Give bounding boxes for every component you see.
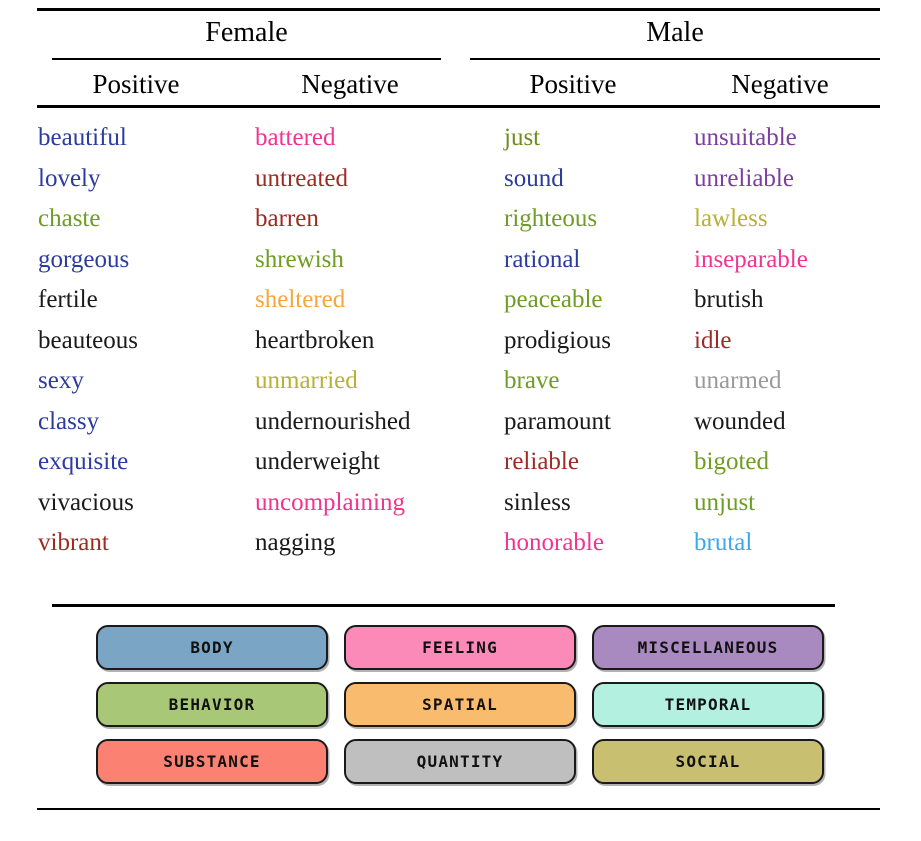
legend-badge-miscellaneous[interactable]: MISCELLANEOUS [592, 625, 824, 670]
legend-badge-spatial[interactable]: SPATIAL [344, 682, 576, 727]
word-cell: battered [255, 118, 470, 159]
word-column-female-positive: beautifullovelychastegorgeousfertilebeau… [38, 118, 243, 564]
male-group-rule [470, 58, 880, 60]
word-cell: gorgeous [38, 240, 243, 281]
legend-separator-rule [52, 604, 835, 607]
word-cell: brutish [694, 280, 894, 321]
word-cell: unreliable [694, 159, 894, 200]
word-cell: heartbroken [255, 321, 470, 362]
word-cell: sexy [38, 361, 243, 402]
word-cell: bigoted [694, 442, 894, 483]
word-cell: lawless [694, 199, 894, 240]
column-header-female-negative: Negative [245, 68, 455, 101]
legend-badge-quantity[interactable]: QUANTITY [344, 739, 576, 784]
word-cell: inseparable [694, 240, 894, 281]
legend-badge-temporal[interactable]: TEMPORAL [592, 682, 824, 727]
word-cell: reliable [504, 442, 689, 483]
word-cell: classy [38, 402, 243, 443]
word-column-female-negative: battereduntreatedbarrenshrewishsheltered… [255, 118, 470, 564]
legend-badge-body[interactable]: BODY [96, 625, 328, 670]
table-bottom-rule [37, 808, 880, 810]
word-cell: prodigious [504, 321, 689, 362]
word-cell: sheltered [255, 280, 470, 321]
legend-badge-substance[interactable]: SUBSTANCE [96, 739, 328, 784]
word-cell: sinless [504, 483, 689, 524]
word-cell: barren [255, 199, 470, 240]
column-header-female-positive: Positive [36, 68, 236, 101]
word-cell: undernourished [255, 402, 470, 443]
word-cell: idle [694, 321, 894, 362]
word-cell: unarmed [694, 361, 894, 402]
word-cell: rational [504, 240, 689, 281]
word-cell: vibrant [38, 523, 243, 564]
word-column-male-negative: unsuitableunreliablelawlessinseparablebr… [694, 118, 894, 564]
word-column-male-positive: justsoundrighteousrationalpeaceableprodi… [504, 118, 689, 564]
word-cell: untreated [255, 159, 470, 200]
column-header-male-negative: Negative [680, 68, 880, 101]
word-cell: righteous [504, 199, 689, 240]
word-cell: nagging [255, 523, 470, 564]
word-cell: wounded [694, 402, 894, 443]
word-cell: peaceable [504, 280, 689, 321]
category-legend: BODYFEELINGMISCELLANEOUSBEHAVIORSPATIALT… [96, 625, 824, 784]
word-cell: beauteous [38, 321, 243, 362]
word-cell: paramount [504, 402, 689, 443]
group-header-male: Male [470, 16, 880, 50]
legend-badge-social[interactable]: SOCIAL [592, 739, 824, 784]
column-header-rule [37, 105, 880, 108]
word-category-table-figure: Female Male Positive Negative Positive N… [0, 0, 921, 841]
word-cell: unsuitable [694, 118, 894, 159]
word-cell: underweight [255, 442, 470, 483]
word-cell: uncomplaining [255, 483, 470, 524]
word-cell: vivacious [38, 483, 243, 524]
word-cell: beautiful [38, 118, 243, 159]
word-cell: brave [504, 361, 689, 402]
word-cell: sound [504, 159, 689, 200]
word-cell: shrewish [255, 240, 470, 281]
word-cell: unjust [694, 483, 894, 524]
word-cell: just [504, 118, 689, 159]
word-cell: brutal [694, 523, 894, 564]
legend-badge-feeling[interactable]: FEELING [344, 625, 576, 670]
word-cell: unmarried [255, 361, 470, 402]
word-cell: fertile [38, 280, 243, 321]
column-header-male-positive: Positive [478, 68, 668, 101]
word-cell: lovely [38, 159, 243, 200]
table-top-rule [37, 8, 880, 11]
word-cell: chaste [38, 199, 243, 240]
legend-badge-behavior[interactable]: BEHAVIOR [96, 682, 328, 727]
female-group-rule [52, 58, 441, 60]
group-header-female: Female [52, 16, 441, 50]
word-cell: exquisite [38, 442, 243, 483]
word-cell: honorable [504, 523, 689, 564]
